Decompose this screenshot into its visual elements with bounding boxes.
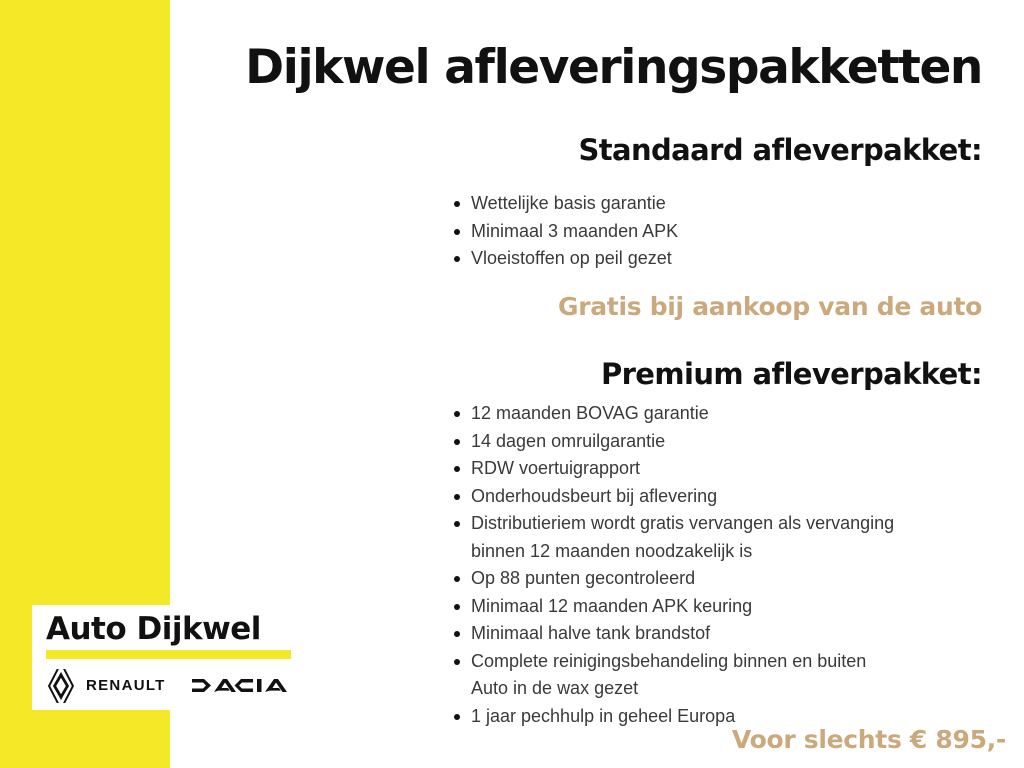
list-item: RDW voertuigrapport — [446, 455, 1006, 483]
list-item-text: Complete reinigingsbehandeling binnen en… — [471, 651, 866, 671]
list-item-text: Minimaal 12 maanden APK keuring — [471, 596, 752, 616]
dacia-wordmark-icon — [192, 676, 298, 695]
list-item: Minimaal halve tank brandstof — [446, 620, 1006, 648]
list-item-text-continued: binnen 12 maanden noodzakelijk is — [471, 538, 1006, 566]
list-item: Distributieriem wordt gratis vervangen a… — [446, 510, 1006, 565]
list-item-text: Distributieriem wordt gratis vervangen a… — [471, 513, 894, 533]
list-item: 14 dagen omruilgarantie — [446, 428, 1006, 456]
standard-package-list: Wettelijke basis garantie Minimaal 3 maa… — [446, 190, 1006, 273]
standard-package-heading: Standaard afleverpakket: — [578, 134, 982, 167]
dealer-logo-card: Auto Dijkwel RENAULT — [32, 605, 305, 710]
list-item-text: 12 maanden BOVAG garantie — [471, 403, 709, 423]
list-item-text-continued: Auto in de wax gezet — [471, 675, 1006, 703]
list-item-text: Onderhoudsbeurt bij aflevering — [471, 486, 717, 506]
premium-package-list: 12 maanden BOVAG garantie 14 dagen omrui… — [446, 400, 1006, 730]
list-item: 12 maanden BOVAG garantie — [446, 400, 1006, 428]
list-item-text: Op 88 punten gecontroleerd — [471, 568, 695, 588]
page-title: Dijkwel afleveringspakketten — [245, 42, 982, 94]
list-item: Wettelijke basis garantie — [446, 190, 1006, 218]
list-item: Vloeistoffen op peil gezet — [446, 245, 1006, 273]
list-item: Minimaal 3 maanden APK — [446, 218, 1006, 246]
renault-diamond-icon — [46, 668, 76, 704]
list-item-text: 1 jaar pechhulp in geheel Europa — [471, 706, 735, 726]
list-item: Onderhoudsbeurt bij aflevering — [446, 483, 1006, 511]
list-item: Op 88 punten gecontroleerd — [446, 565, 1006, 593]
list-item: Minimaal 12 maanden APK keuring — [446, 593, 1006, 621]
premium-price-label: Voor slechts € 895,- — [732, 725, 1006, 754]
slide-canvas: Auto Dijkwel RENAULT Dijkwel afleverings… — [0, 0, 1024, 768]
list-item-text: Minimaal halve tank brandstof — [471, 623, 710, 643]
content-column: Dijkwel afleveringspakketten Standaard a… — [300, 0, 1024, 768]
list-item-text: RDW voertuigrapport — [471, 458, 640, 478]
brand-row: RENAULT — [46, 668, 291, 704]
list-item-text: Minimaal 3 maanden APK — [471, 221, 678, 241]
renault-label: RENAULT — [86, 677, 166, 694]
logo-underline-rule — [46, 650, 291, 659]
premium-package-heading: Premium afleverpakket: — [601, 358, 982, 391]
list-item-text: Wettelijke basis garantie — [471, 193, 666, 213]
list-item-text: 14 dagen omruilgarantie — [471, 431, 665, 451]
list-item: Complete reinigingsbehandeling binnen en… — [446, 648, 1006, 703]
dealer-wordmark: Auto Dijkwel — [46, 613, 291, 646]
list-item-text: Vloeistoffen op peil gezet — [471, 248, 672, 268]
standard-package-tagline: Gratis bij aankoop van de auto — [558, 292, 982, 321]
